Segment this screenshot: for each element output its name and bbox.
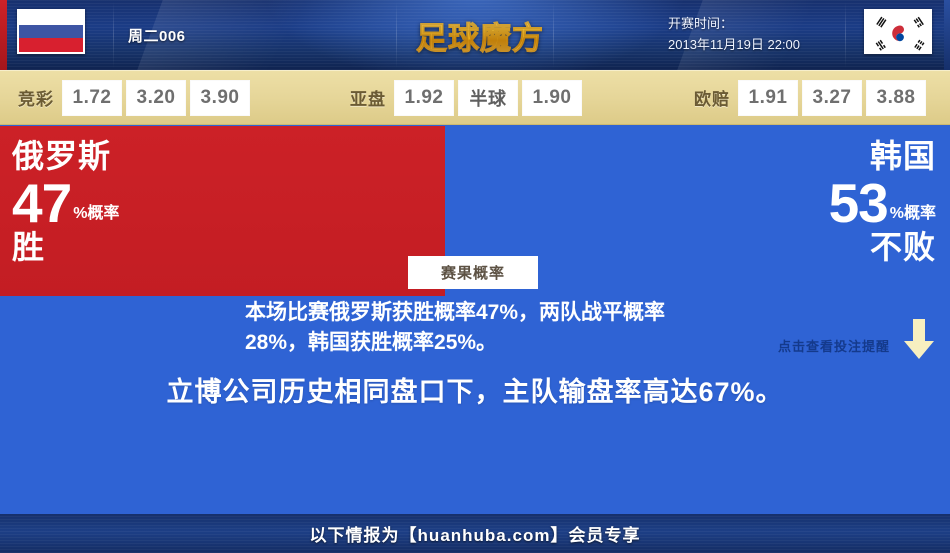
- betting-tip-link[interactable]: 点击查看投注提醒: [778, 336, 890, 355]
- header-divider-right: [845, 2, 846, 68]
- kickoff-time: 开赛时间： 2013年11月19日 22:00: [668, 13, 800, 56]
- odds-value-yapan-handicap[interactable]: 半球: [458, 80, 518, 116]
- home-probability-value: 47: [12, 176, 71, 231]
- match-info-card: 周二006 足球魔方 开赛时间： 2013年11月19日 22:00: [0, 0, 950, 553]
- odds-group-jingcai: 竞彩 1.72 3.20 3.90: [18, 80, 254, 116]
- home-result-label: 胜: [12, 231, 119, 265]
- kickoff-value: 2013年11月19日 22:00: [668, 34, 800, 55]
- footer-bar: 以下情报为【huanhuba.com】会员专享: [0, 512, 950, 553]
- header-left-red-stripe: [0, 0, 7, 70]
- odds-group-yapan: 亚盘 1.92 半球 1.90: [350, 80, 586, 116]
- away-team-name: 韩国: [829, 140, 936, 174]
- odds-group-oupei: 欧赔 1.91 3.27 3.88: [694, 80, 930, 116]
- away-result-label: 不败: [829, 231, 936, 265]
- south-korea-flag: [864, 9, 932, 54]
- odds-value-yapan-away[interactable]: 1.90: [522, 80, 582, 116]
- home-probability-unit: %概率: [73, 206, 119, 231]
- odds-value-yapan-home[interactable]: 1.92: [394, 80, 454, 116]
- odds-label-jingcai: 竞彩: [18, 85, 54, 110]
- odds-label-oupei: 欧赔: [694, 85, 730, 110]
- odds-value-oupei-away[interactable]: 3.88: [866, 80, 926, 116]
- odds-value-jingcai-draw[interactable]: 3.20: [126, 80, 186, 116]
- home-team-block: 俄罗斯 47 %概率 胜: [12, 140, 119, 264]
- away-probability-value: 53: [829, 176, 888, 231]
- site-logo[interactable]: 足球魔方: [416, 0, 544, 70]
- header-divider-logo-left: [396, 2, 397, 68]
- south-korea-flag-svg: [866, 11, 930, 52]
- header-divider-logo-right: [553, 2, 554, 68]
- probability-band: 俄罗斯 47 %概率 胜 韩国 53 %概率 不败 赛果概率 本场比赛俄罗斯获胜…: [0, 126, 950, 296]
- away-probability-unit: %概率: [890, 206, 936, 231]
- home-team-name: 俄罗斯: [12, 140, 119, 174]
- home-probability-line: 47 %概率: [12, 176, 119, 231]
- odds-label-yapan: 亚盘: [350, 85, 386, 110]
- header-right-blue-stripe: [944, 0, 950, 70]
- match-number: 周二006: [128, 0, 186, 70]
- probability-summary-text: 本场比赛俄罗斯获胜概率47%，两队战平概率28%，韩国获胜概率25%。: [245, 298, 695, 358]
- russia-flag: [17, 9, 85, 54]
- probability-badge: 赛果概率: [408, 256, 538, 289]
- header-bar: 周二006 足球魔方 开赛时间： 2013年11月19日 22:00: [0, 0, 950, 70]
- away-team-block: 韩国 53 %概率 不败: [829, 140, 936, 264]
- odds-value-oupei-draw[interactable]: 3.27: [802, 80, 862, 116]
- odds-value-oupei-home[interactable]: 1.91: [738, 80, 798, 116]
- footer-text: 以下情报为【huanhuba.com】会员专享: [310, 521, 641, 546]
- odds-value-jingcai-home[interactable]: 1.72: [62, 80, 122, 116]
- header-divider-left: [113, 2, 114, 68]
- arrow-down-icon[interactable]: [902, 317, 936, 361]
- main-headline: 立博公司历史相同盘口下，主队输盘率高达67%。: [0, 370, 950, 409]
- odds-value-jingcai-away[interactable]: 3.90: [190, 80, 250, 116]
- kickoff-label: 开赛时间：: [668, 13, 800, 34]
- away-probability-line: 53 %概率: [829, 176, 936, 231]
- odds-bar: 竞彩 1.72 3.20 3.90 亚盘 1.92 半球 1.90 欧赔 1.9…: [0, 70, 950, 125]
